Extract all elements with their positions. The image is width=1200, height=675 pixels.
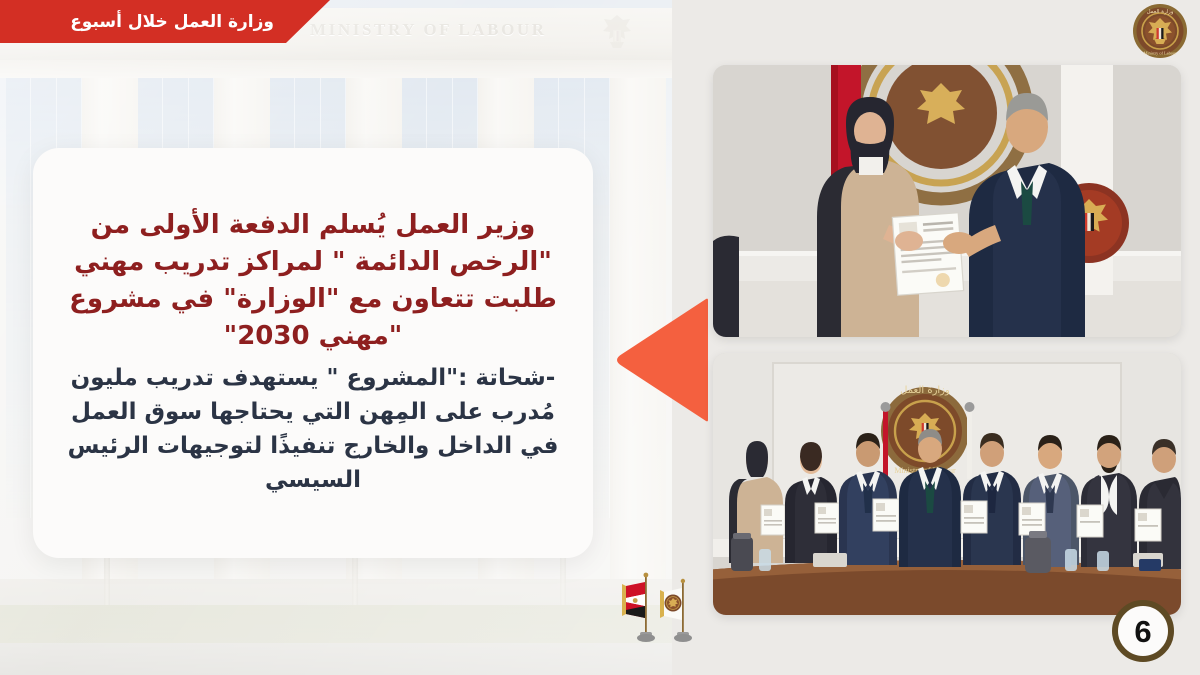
svg-text:وزارة العمل: وزارة العمل	[900, 385, 950, 396]
ministry-of-labour-flag	[660, 579, 692, 642]
svg-text:وزارة العمل: وزارة العمل	[1147, 9, 1174, 15]
header-ribbon: وزارة العمل خلال أسبوع	[0, 0, 330, 43]
photo-group-with-certificates: وزارة العمل Ministry of Labour	[713, 353, 1181, 615]
certificate	[892, 213, 963, 295]
card-subline: -شحاتة :"المشروع " يستهدف تدريب مليون مُ…	[59, 361, 567, 497]
svg-text:Ministry of Labour: Ministry of Labour	[1144, 51, 1178, 56]
page-number-value: 6	[1134, 616, 1151, 647]
text-card: وزير العمل يُسلم الدفعة الأولى من "الرخص…	[33, 148, 593, 558]
photo-minister-handing-certificate: Ministry of Labour	[713, 65, 1181, 337]
page-number-badge: 6	[1112, 600, 1174, 662]
slide: MINISTRY OF LABOUR وزارة العمل خلال أسبو…	[0, 0, 1200, 675]
ministry-of-labour-logo: وزارة العمل Ministry of Labour	[1132, 3, 1188, 59]
desk-flags	[616, 572, 708, 658]
orange-accent-wedge	[612, 298, 708, 422]
card-headline: وزير العمل يُسلم الدفعة الأولى من "الرخص…	[59, 207, 567, 355]
egypt-flag	[622, 573, 655, 642]
header-ribbon-label: وزارة العمل خلال أسبوع	[70, 12, 274, 32]
